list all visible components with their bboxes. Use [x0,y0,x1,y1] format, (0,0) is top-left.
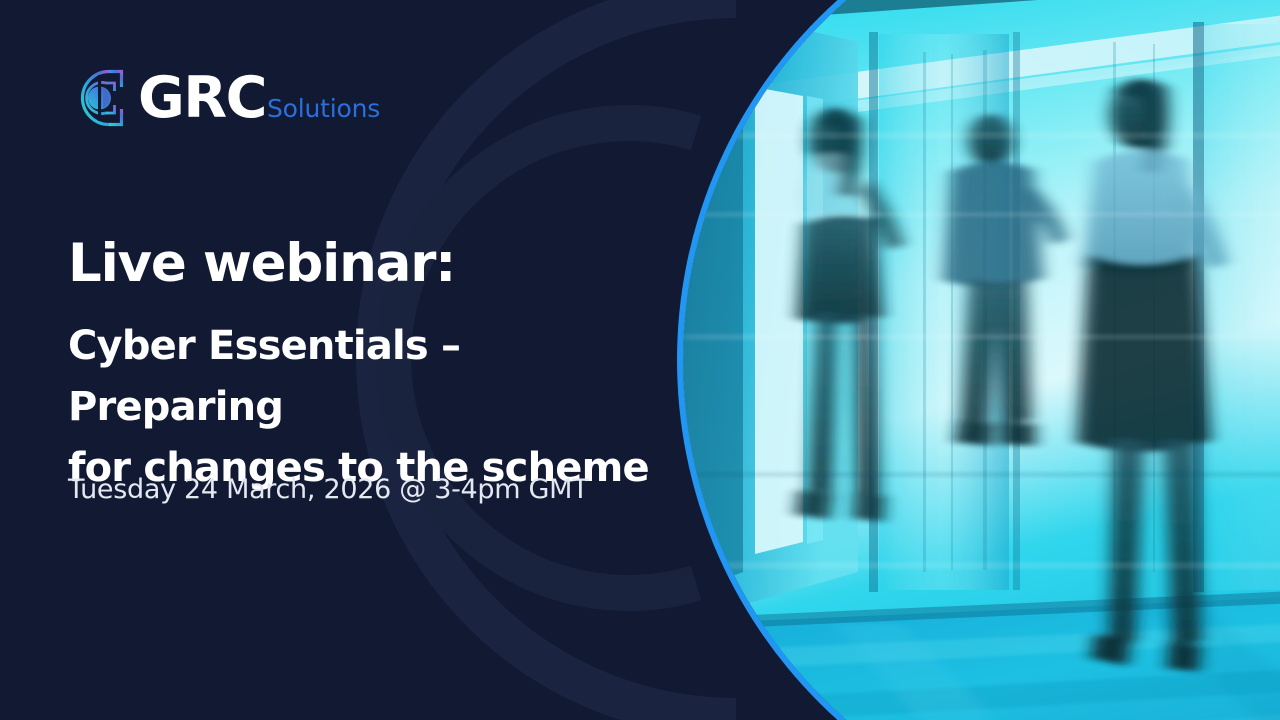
webinar-datetime: Tuesday 24 March, 2026 @ 3-4pm GMT [68,474,588,505]
webinar-title: Cyber Essentials – Preparing for changes… [68,316,678,498]
eyebrow-heading: Live webinar: [68,236,455,292]
webinar-banner: GRCSolutions Live webinar: Cyber Essenti… [0,0,1280,720]
hero-photo-circle [683,0,1280,720]
webinar-title-line-1: Cyber Essentials – Preparing [68,316,678,438]
brand-logo[interactable]: GRCSolutions [68,62,380,134]
hero-photo-inner [683,0,1280,720]
grc-concentric-arc-mark-icon [68,65,130,131]
content-column: GRCSolutions Live webinar: Cyber Essenti… [0,0,700,720]
wordmark-grc: GRC [138,70,266,127]
wordmark-solutions: Solutions [267,96,380,121]
hero-photo-illustration [683,0,1280,720]
brand-wordmark: GRCSolutions [138,70,380,127]
